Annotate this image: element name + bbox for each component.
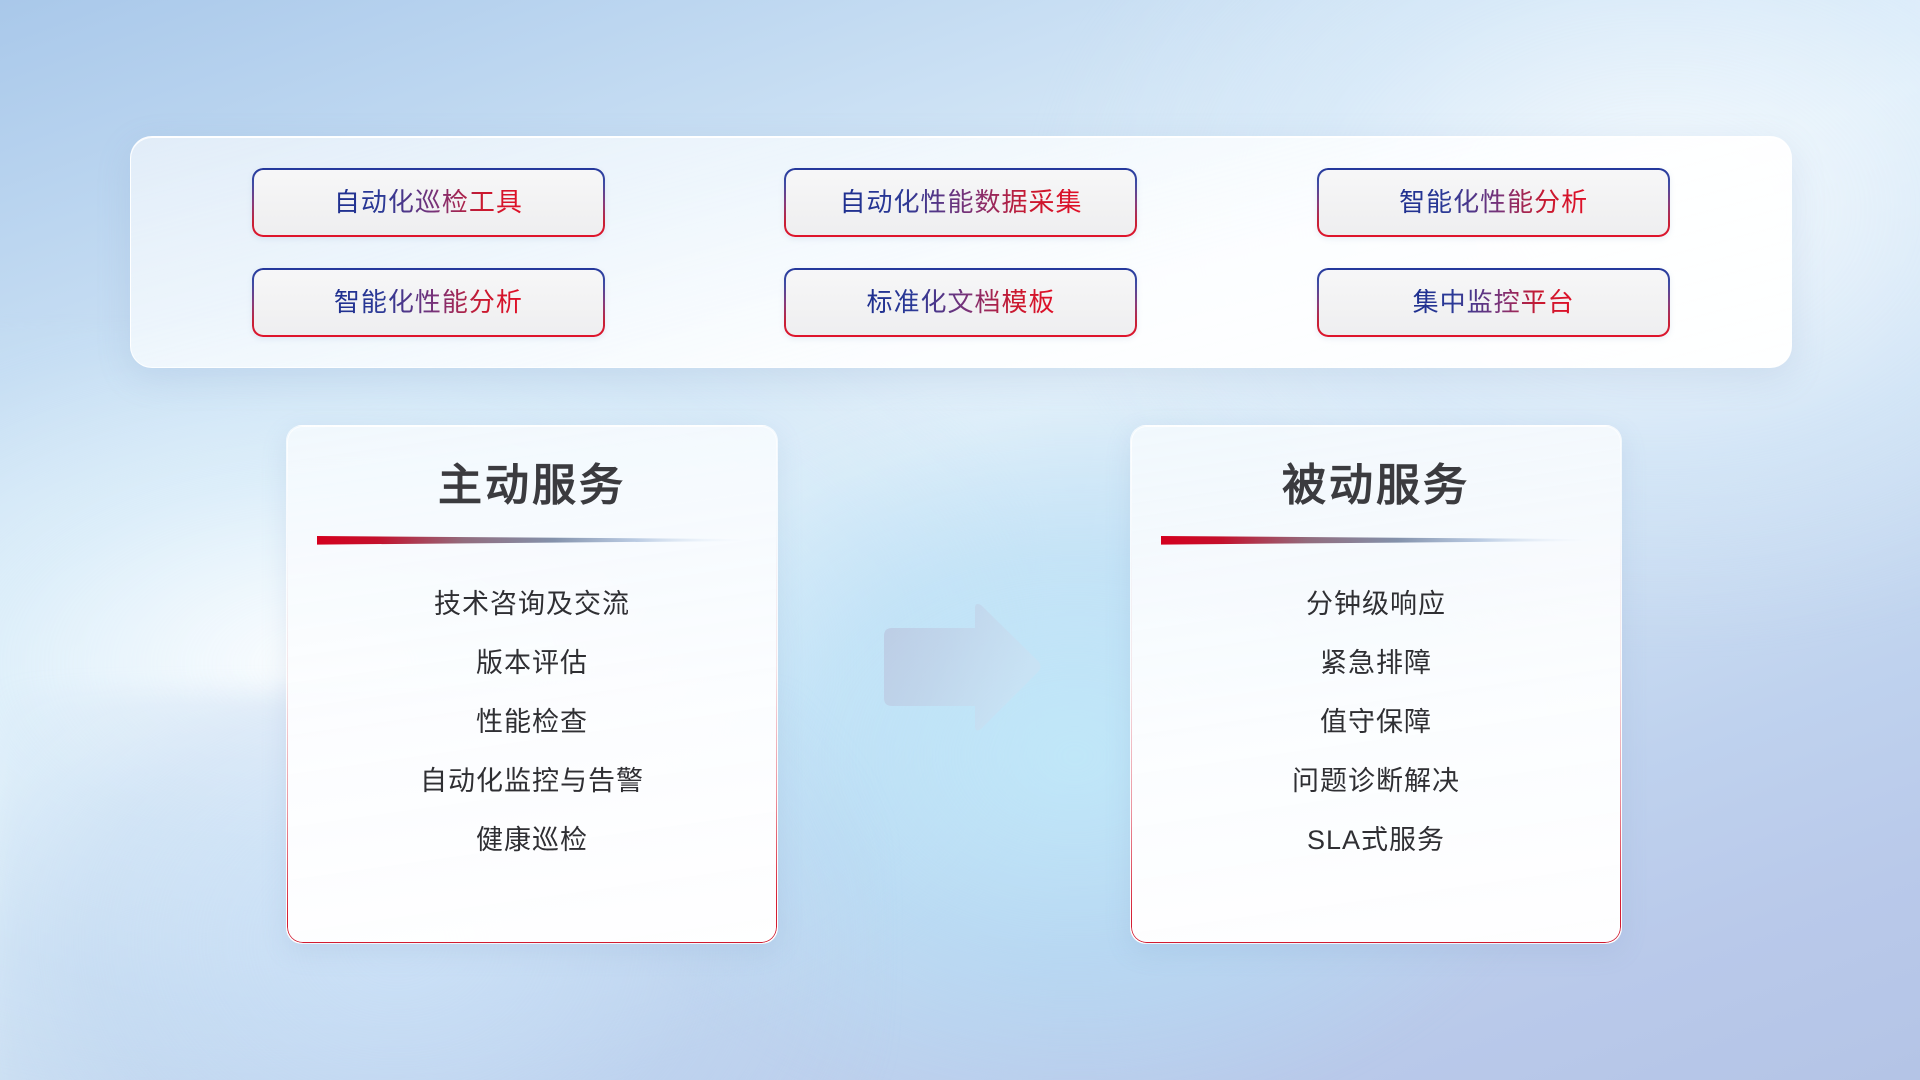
list-item[interactable]: 问题诊断解决 xyxy=(1145,752,1607,811)
list-item[interactable]: 性能检查 xyxy=(301,693,763,752)
tag-label: 自动化巡检工具 xyxy=(334,189,523,215)
list-item[interactable]: 值守保障 xyxy=(1145,693,1607,752)
tag-box-intelligent-performance-analysis-2[interactable]: 智能化性能分析 xyxy=(252,268,605,337)
tag-label: 智能化性能分析 xyxy=(334,289,523,315)
tag-label: 自动化性能数据采集 xyxy=(839,189,1082,215)
list-item[interactable]: 健康巡检 xyxy=(301,811,763,870)
arrow-right-icon xyxy=(878,602,1043,735)
list-item[interactable]: 技术咨询及交流 xyxy=(301,575,763,634)
tag-box-intelligent-performance-analysis-1[interactable]: 智能化性能分析 xyxy=(1317,168,1670,237)
capabilities-panel: 自动化巡检工具 自动化性能数据采集 智能化性能分析 智能化性能分析 标准化文档模… xyxy=(130,136,1792,368)
list-item[interactable]: SLA式服务 xyxy=(1145,811,1607,870)
service-item-list: 分钟级响应 紧急排障 值守保障 问题诊断解决 SLA式服务 xyxy=(1131,575,1621,870)
list-item[interactable]: 分钟级响应 xyxy=(1145,575,1607,634)
card-divider-icon xyxy=(317,536,747,545)
service-card-proactive[interactable]: 主动服务 技术咨询及交流 版本评估 性能检查 自动化监控与告警 健康巡检 xyxy=(286,425,778,944)
tag-box-centralized-monitoring-platform[interactable]: 集中监控平台 xyxy=(1317,268,1670,337)
tag-box-automated-performance-data-collection[interactable]: 自动化性能数据采集 xyxy=(784,168,1137,237)
card-divider-icon xyxy=(1161,536,1591,545)
list-item[interactable]: 版本评估 xyxy=(301,634,763,693)
card-title: 主动服务 xyxy=(287,462,777,510)
service-card-reactive[interactable]: 被动服务 分钟级响应 紧急排障 值守保障 问题诊断解决 SLA式服务 xyxy=(1130,425,1622,944)
tag-label: 标准化文档模板 xyxy=(866,289,1055,315)
tag-box-automated-inspection-tool[interactable]: 自动化巡检工具 xyxy=(252,168,605,237)
tag-label: 智能化性能分析 xyxy=(1399,189,1588,215)
tag-box-standardized-document-template[interactable]: 标准化文档模板 xyxy=(784,268,1137,337)
list-item[interactable]: 紧急排障 xyxy=(1145,634,1607,693)
service-item-list: 技术咨询及交流 版本评估 性能检查 自动化监控与告警 健康巡检 xyxy=(287,575,777,870)
list-item[interactable]: 自动化监控与告警 xyxy=(301,752,763,811)
tag-label: 集中监控平台 xyxy=(1413,289,1575,315)
card-title: 被动服务 xyxy=(1131,462,1621,510)
